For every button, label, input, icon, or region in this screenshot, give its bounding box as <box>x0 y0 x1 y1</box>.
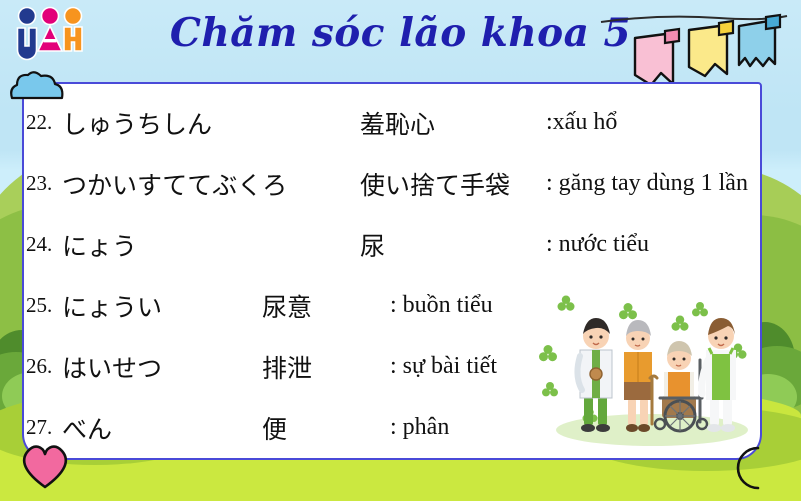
vocab-row-22: 22. しゅうちしん 羞恥心 :xấu hổ <box>26 92 761 153</box>
vocab-index: 23. <box>26 171 62 196</box>
vocab-kana: にょう <box>62 227 360 263</box>
vocab-kana: つかいすててぶくろ <box>62 166 360 202</box>
vocab-meaning: : sự bài tiết <box>390 353 497 380</box>
elderly-woman-figure <box>624 320 657 432</box>
elderly-care-illustration <box>532 294 768 446</box>
vocab-index: 26. <box>26 354 62 379</box>
vocab-row-24: 24. にょう 尿 : nước tiểu <box>26 214 761 275</box>
vocab-index: 22. <box>26 110 62 135</box>
heart-icon <box>18 440 72 490</box>
crescent-moon-icon <box>726 444 774 492</box>
vocab-meaning: : phân <box>390 414 449 441</box>
vocab-meaning: : buồn tiểu <box>390 292 493 319</box>
vocab-kana: はいせつ <box>62 349 262 385</box>
vocab-kanji: 尿 <box>360 227 546 263</box>
vocab-kana: べん <box>62 410 262 446</box>
vocab-kanji: 排泄 <box>262 349 390 385</box>
vocab-kanji: 便 <box>262 410 390 446</box>
slide: Chăm sóc lão khoa 5 <box>0 0 801 501</box>
vocab-kanji: 尿意 <box>262 288 390 324</box>
vocab-meaning: : găng tay dùng 1 lần <box>546 170 748 197</box>
vocab-row-23: 23. つかいすててぶくろ 使い捨て手袋 : găng tay dùng 1 l… <box>26 153 761 214</box>
pink-banner <box>635 29 679 85</box>
vocab-meaning: :xấu hổ <box>546 109 617 136</box>
caregiver-figure <box>702 318 736 432</box>
vocab-meaning: : nước tiểu <box>546 231 649 258</box>
vocab-index: 27. <box>26 415 62 440</box>
vocab-index: 25. <box>26 293 62 318</box>
blue-banner <box>739 15 780 66</box>
vocab-kanji: 羞恥心 <box>360 105 546 141</box>
vocab-kana: にょうい <box>62 288 262 324</box>
vocab-kanji: 使い捨て手袋 <box>360 166 546 202</box>
yellow-banner <box>689 21 733 76</box>
vocab-index: 24. <box>26 232 62 257</box>
vocab-kana: しゅうちしん <box>62 105 360 141</box>
